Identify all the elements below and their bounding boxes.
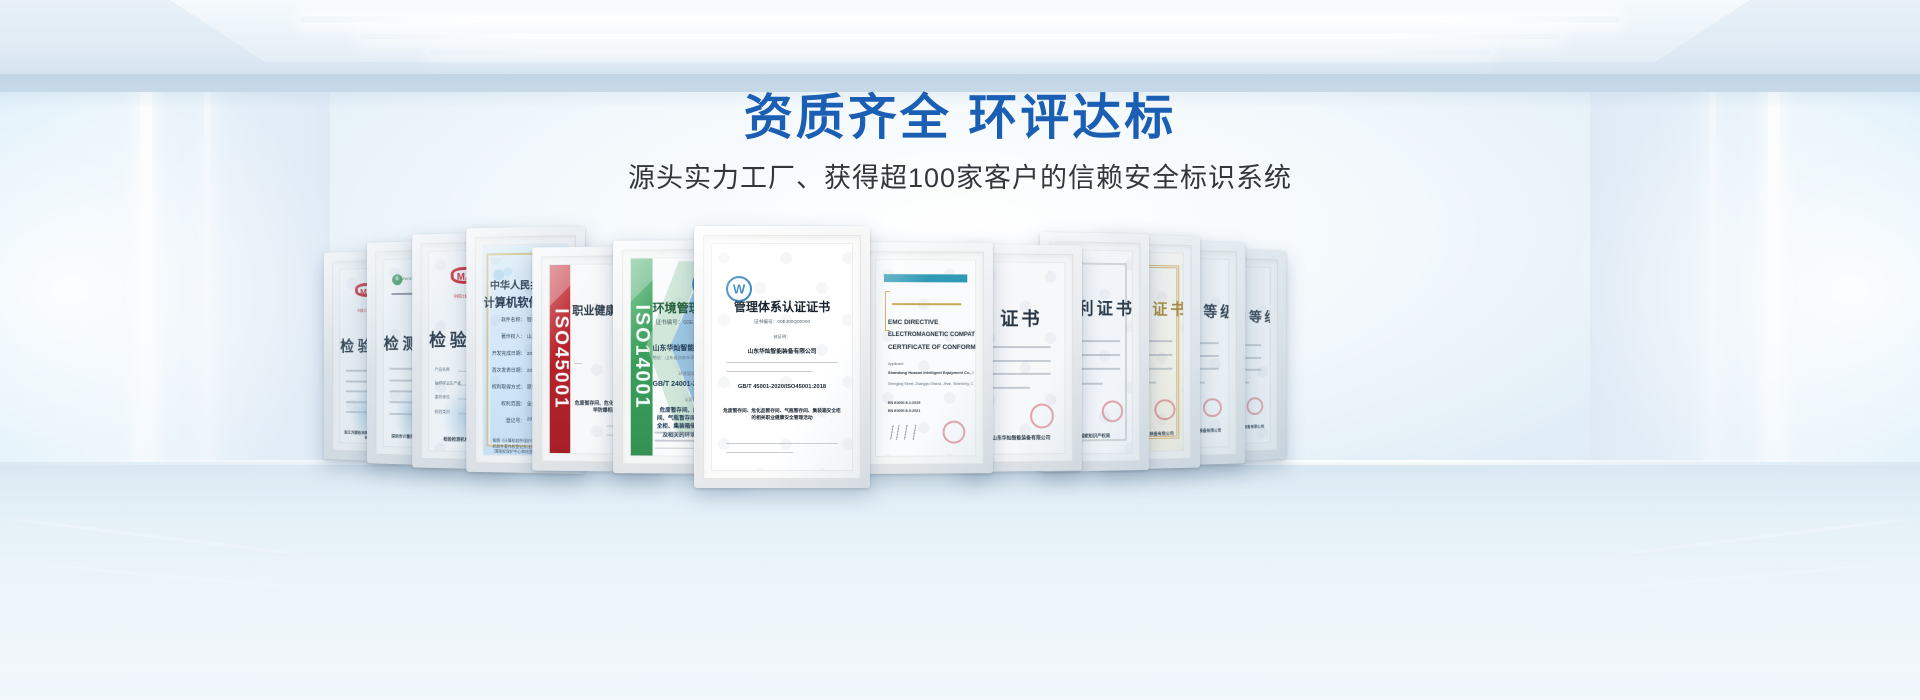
text-line (726, 371, 813, 372)
signature-mark (890, 424, 924, 440)
certificate-frame-cert-08[interactable]: EMC DIRECTIVEELECTROMAGNETIC COMPATIBILI… (858, 242, 993, 474)
banner-stage: 资质齐全 环评达标 源头实力工厂、获得超100家客户的信赖安全标识系统 MA中国… (0, 0, 1920, 700)
certificate-paper: EMC DIRECTIVEELECTROMAGNETIC COMPATIBILI… (876, 260, 975, 456)
certificate-wall: MA中国计量认证检验报告浙江方圆检测集团股份有限公司①Shenzhen检测报告深… (0, 0, 1920, 700)
certificate-company: 山东华灿智能装备有限公司 (712, 346, 852, 355)
certificate-mat: EMC DIRECTIVEELECTROMAGNETIC COMPATIBILI… (867, 251, 984, 465)
certificate-applicant-label: Applicant: (888, 362, 973, 366)
certificate-field-label: 首次发表日期： (492, 367, 525, 374)
certificate-field-label: 著作权人： (492, 333, 525, 340)
certificate-footer: 山东华灿智能装备有限公司 (983, 434, 1059, 442)
certificate-field-label: 权利取得方式： (492, 383, 525, 390)
certificate-title: 管理体系认证证书 (712, 298, 852, 315)
text-line (726, 452, 793, 453)
text-line (992, 360, 1051, 362)
approval-stamp (1030, 404, 1054, 429)
certificate-address: Shengjing Street, Zhangqiu District, Jin… (888, 381, 973, 385)
certificate-standard: GB/T 45001-2020/ISO45001:2018 (712, 384, 852, 390)
text-line (726, 443, 838, 444)
header-bar (884, 274, 967, 282)
approval-stamp (1155, 399, 1175, 420)
text-line (574, 363, 582, 364)
certificate-paper: W管理体系认证证书证书编号：00EJ00Q00000兹证明：山东华灿智能装备有限… (712, 244, 852, 470)
certificate-field-label: 开发完成日期： (492, 350, 525, 357)
certificate-standard-1: EN 61000-6-1:2019 (888, 401, 973, 405)
certificate-scope: 危废暂存间、危化品暂存间、气瓶暂存间、集装箱安全柜的相关职业健康安全管理活动 (723, 407, 841, 421)
gold-rule (892, 303, 961, 305)
spine-iso-label: ISO45001 (550, 308, 571, 409)
text-line (992, 387, 1030, 389)
text-line (992, 347, 1051, 349)
certificate-standard-2: EN 61000-6-3:2021 (888, 409, 973, 413)
approval-stamp (942, 420, 965, 443)
text-line (992, 373, 1051, 375)
certificate-applicant: Shandong Huacan Intelligent Equipment Co… (888, 370, 973, 375)
spine-cut (550, 265, 571, 314)
certificate-field-label: 权利范围： (492, 400, 525, 407)
certificate-company-label: 兹证明： (712, 334, 852, 340)
text-line (726, 362, 838, 363)
certificate-field-label: 软件名称： (492, 316, 525, 323)
certificate-frame-cert-07[interactable]: W管理体系认证证书证书编号：00EJ00Q00000兹证明：山东华灿智能装备有限… (694, 226, 870, 488)
approval-stamp (1246, 397, 1263, 415)
certificate-spine: ISO45001 (550, 265, 571, 453)
certificate-number: 证书编号：00EJ00Q00000 (712, 319, 852, 325)
certificate-field-label: 登记号： (492, 417, 525, 424)
certificate-heading-line: ELECTROMAGNETIC COMPATIBILITY DIRECTIVE (888, 332, 973, 338)
certificate-heading-line: CERTIFICATE OF CONFORMITY (888, 344, 973, 351)
approval-stamp (1203, 398, 1222, 418)
seal-core: W (733, 281, 745, 296)
certificate-heading-line: EMC DIRECTIVE (888, 319, 973, 326)
certificate-mat: W管理体系认证证书证书编号：00EJ00Q00000兹证明：山东华灿智能装备有限… (703, 235, 861, 479)
